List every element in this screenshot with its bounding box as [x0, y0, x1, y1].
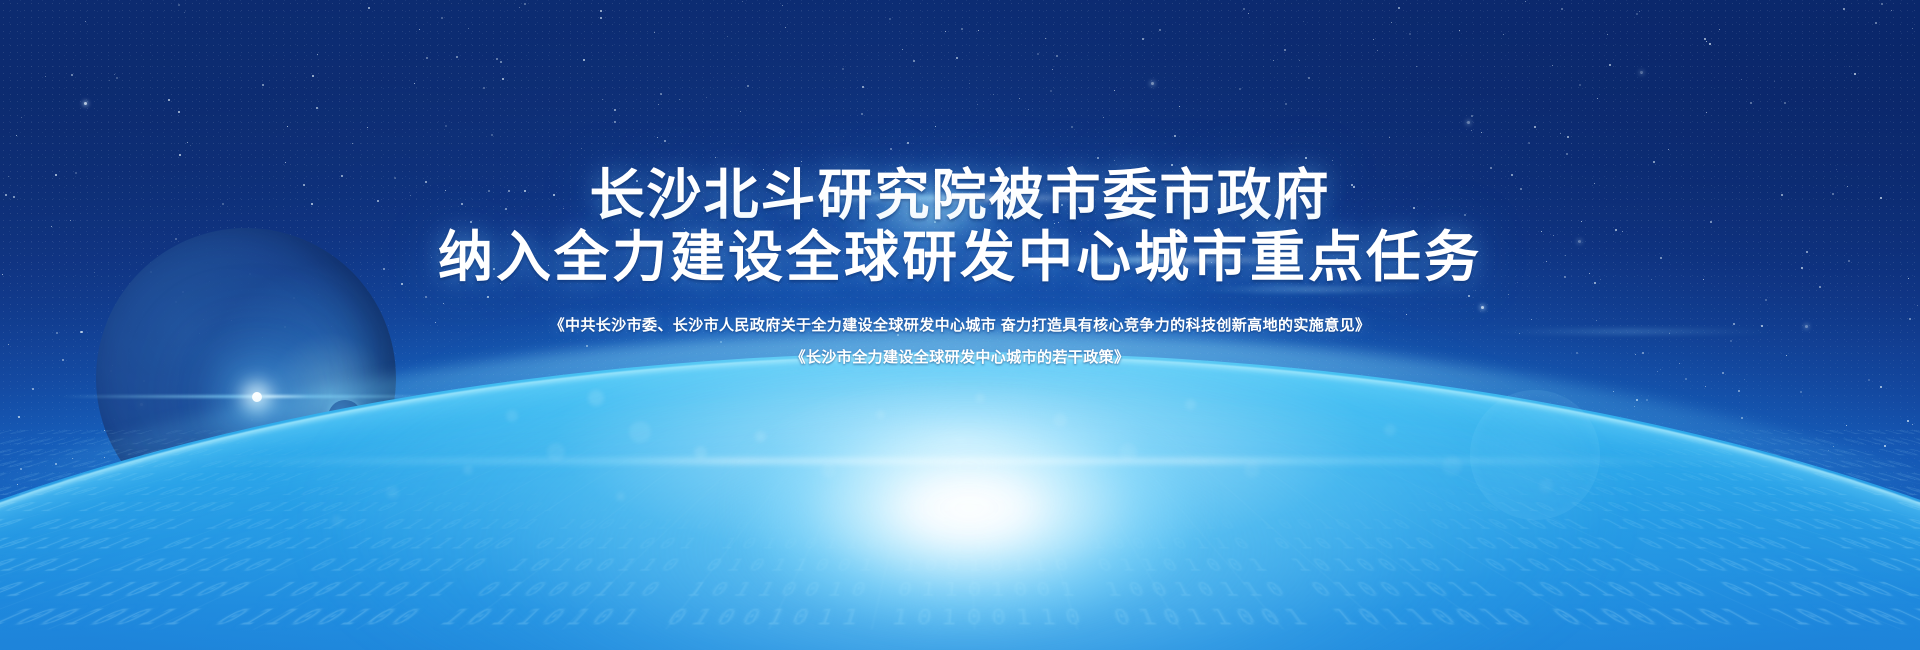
subtitle-line-2: 《长沙市全力建设全球研发中心城市的若干政策》	[550, 342, 1371, 373]
banner-content: 长沙北斗研究院被市委市政府 纳入全力建设全球研发中心城市重点任务 《中共长沙市委…	[0, 0, 1920, 650]
headline-line-2: 纳入全力建设全球研发中心城市重点任务	[438, 226, 1482, 288]
headline-line-1: 长沙北斗研究院被市委市政府	[438, 164, 1482, 226]
banner-headline: 长沙北斗研究院被市委市政府 纳入全力建设全球研发中心城市重点任务	[438, 164, 1482, 288]
hero-banner: 01001011 10110100 01101001 10010110 0101…	[0, 0, 1920, 650]
subtitle-line-1: 《中共长沙市委、长沙市人民政府关于全力建设全球研发中心城市 奋力打造具有核心竞争…	[550, 310, 1371, 341]
banner-subtitles: 《中共长沙市委、长沙市人民政府关于全力建设全球研发中心城市 奋力打造具有核心竞争…	[550, 310, 1371, 373]
